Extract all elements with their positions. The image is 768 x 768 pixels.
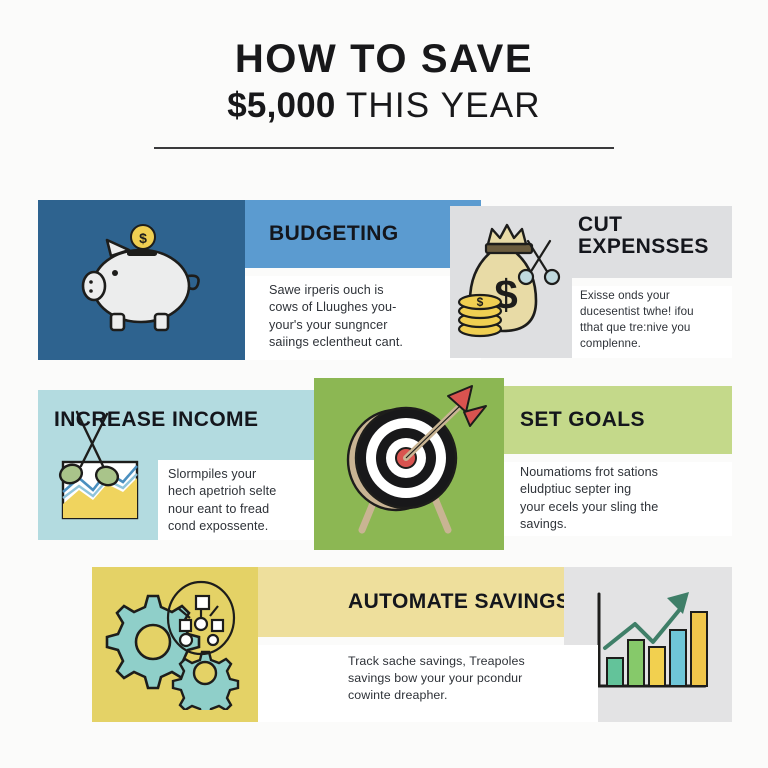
set-goals-heading-band: SET GOALS bbox=[504, 386, 732, 454]
svg-text:$: $ bbox=[477, 295, 484, 309]
card-automate-savings[interactable]: AUTOMATE SAVINGS Track sache savings, Tr… bbox=[92, 567, 732, 722]
automate-savings-icon-panel bbox=[92, 567, 258, 722]
page-subtitle: $5,000 THIS YEAR bbox=[0, 88, 768, 125]
automate-savings-body-box: Track sache savings, Treapoles savings b… bbox=[258, 645, 598, 722]
increase-income-body-box: Slormpiles your hech apetrioh selte nour… bbox=[158, 460, 338, 540]
money-bag-scissors-icon: $ $ bbox=[456, 217, 566, 347]
automate-savings-heading-band: AUTOMATE SAVINGS bbox=[258, 567, 564, 637]
page-title: HOW TO SAVE bbox=[0, 38, 768, 80]
title-suffix: THIS YEAR bbox=[346, 86, 541, 125]
cut-expenses-icon-panel: $ $ bbox=[450, 206, 572, 358]
budgeting-body-box: Sawe irperis ouch is cows of Lluughes yo… bbox=[245, 276, 481, 360]
budgeting-body-text: Sawe irperis ouch is cows of Lluughes yo… bbox=[269, 282, 403, 352]
title-divider bbox=[154, 147, 614, 149]
automate-savings-body-text: Track sache savings, Treapoles savings b… bbox=[348, 653, 525, 704]
budgeting-heading-band: BUDGETING bbox=[245, 200, 481, 268]
budgeting-heading: BUDGETING bbox=[269, 223, 399, 245]
card-budgeting[interactable]: $ BUDGETING Sawe irperis ouch is cows of… bbox=[38, 200, 438, 360]
piggy-bank-icon: $ bbox=[67, 220, 217, 340]
automate-savings-heading: AUTOMATE SAVINGS bbox=[348, 591, 570, 613]
target-icon-panel bbox=[314, 378, 504, 550]
budgeting-icon-panel: $ bbox=[38, 200, 245, 360]
cut-expenses-body-box: Exisse onds your ducesentist twhe! ifou … bbox=[572, 286, 732, 358]
set-goals-body-box: Noumatioms frot sations eludptiuc septer… bbox=[504, 462, 732, 536]
set-goals-heading: SET GOALS bbox=[520, 409, 645, 431]
savings-amount: $5,000 bbox=[227, 86, 335, 125]
increase-income-body-text: Slormpiles your hech apetrioh selte nour… bbox=[168, 466, 276, 536]
increase-income-heading: INCREASE INCOME bbox=[54, 409, 258, 431]
card-set-goals[interactable]: SET GOALS Noumatioms frot sations eludpt… bbox=[504, 386, 732, 536]
card-cut-expenses[interactable]: $ $ CUT EXPENSSES Exisse onds your duces… bbox=[450, 206, 732, 358]
gears-icon bbox=[100, 580, 250, 710]
cut-expenses-body-text: Exisse onds your ducesentist twhe! ifou … bbox=[580, 288, 694, 352]
page-header: HOW TO SAVE $5,000 THIS YEAR bbox=[0, 0, 768, 149]
target-arrow-icon bbox=[314, 378, 504, 550]
card-increase-income[interactable]: INCREASE INCOME Slormpiles your hech ape… bbox=[38, 390, 338, 540]
cut-expenses-heading: CUT EXPENSSES bbox=[578, 214, 709, 259]
svg-text:$: $ bbox=[139, 230, 147, 246]
growth-bar-chart-icon bbox=[583, 586, 713, 704]
set-goals-body-text: Noumatioms frot sations eludptiuc septer… bbox=[520, 464, 658, 534]
